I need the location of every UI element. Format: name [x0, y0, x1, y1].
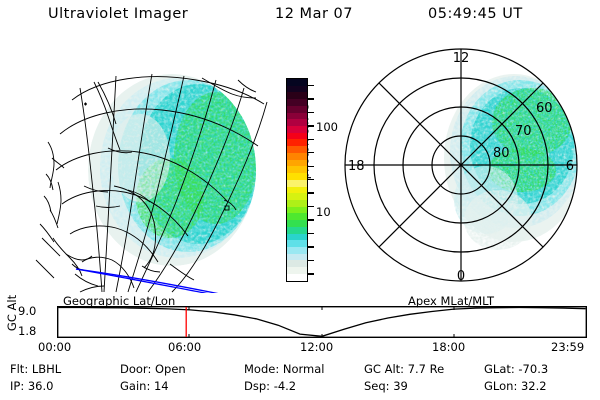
colorbar-tickmark — [308, 166, 314, 167]
colorbar-gradient — [286, 78, 308, 282]
colorbar-tickmark — [308, 85, 314, 86]
status-door: Door: Open — [120, 362, 186, 376]
status-glat-label: GLat: — [484, 362, 515, 376]
orbit-x-tickmarks — [189, 307, 454, 338]
colorbar-segment — [287, 227, 307, 234]
colorbar-segment — [287, 240, 307, 247]
mlt-label-6: 6 — [566, 159, 574, 174]
status-mode: Mode: Normal — [244, 362, 324, 376]
colorbar-segment — [287, 119, 307, 126]
colorbar-segment — [287, 254, 307, 261]
colorbar-tickmark — [308, 152, 314, 153]
colorbar-segment — [287, 133, 307, 140]
instrument-title: Ultraviolet Imager — [48, 6, 188, 22]
colorbar-label-10: 10 — [316, 207, 331, 219]
status-glon: GLon: 32.2 — [484, 379, 547, 393]
status-gcalt-value: 7.7 Re — [408, 362, 445, 376]
status-gcalt-label: GC Alt: — [364, 362, 404, 376]
colorbar-segment — [287, 200, 307, 207]
colorbar-segment — [287, 193, 307, 200]
colorbar-segment — [287, 126, 307, 133]
colorbar-tickmark — [308, 273, 314, 274]
status-gcalt: GC Alt: 7.7 Re — [364, 362, 444, 376]
colorbar-segment — [287, 92, 307, 99]
colorbar-segment — [287, 173, 307, 180]
status-dsp-label: Dsp: — [244, 379, 270, 393]
status-ip-value: 36.0 — [28, 379, 54, 393]
status-glon-label: GLon: — [484, 379, 517, 393]
colorbar-tickmark — [308, 260, 314, 261]
colorbar-segment — [287, 260, 307, 267]
status-door-value: Open — [155, 362, 186, 376]
colorbar-segment — [287, 139, 307, 146]
mlt-label-0: 0 — [457, 269, 465, 284]
terminator-line-segment — [76, 269, 220, 293]
colorbar-segment — [287, 146, 307, 153]
status-glat: GLat: -70.3 — [484, 362, 548, 376]
status-ip-label: IP: — [10, 379, 24, 393]
colorbar-segment — [287, 207, 307, 214]
mlt-label-18: 18 — [348, 159, 365, 174]
colorbar-segment — [287, 106, 307, 113]
mlat-label-80: 80 — [493, 146, 510, 161]
orbit-y-axis-label: GC Alt — [5, 283, 19, 343]
status-row-2: IP: 36.0 Gain: 14 Dsp: -4.2 Seq: 39 GLon… — [0, 379, 600, 396]
colorbar-segment — [287, 79, 307, 86]
status-mode-label: Mode: — [244, 362, 279, 376]
orbit-xtick-0: 00:00 — [38, 340, 71, 354]
app-root: Ultraviolet Imager 12 Mar 07 05:49:45 UT — [0, 0, 600, 400]
mlat-label-60: 60 — [536, 101, 553, 116]
polar-dial-svg: 12 6 0 18 60 70 80 — [336, 40, 586, 290]
colorbar-label-100: 100 — [316, 122, 338, 134]
mlt-label-12: 12 — [453, 51, 470, 66]
colorbar[interactable]: photon cm-2s-1 100 10 — [272, 60, 336, 296]
status-glat-value: -70.3 — [518, 362, 548, 376]
colorbar-tickmark — [308, 206, 314, 207]
mlt-spokes — [345, 49, 577, 281]
status-ip: IP: 36.0 — [10, 379, 53, 393]
status-gain: Gain: 14 — [120, 379, 169, 393]
colorbar-tickmark — [308, 112, 314, 113]
colorbar-segment — [287, 180, 307, 187]
status-seq-label: Seq: — [364, 379, 390, 393]
orbit-plot-frame — [58, 307, 587, 338]
header: Ultraviolet Imager 12 Mar 07 05:49:45 UT — [0, 6, 600, 30]
status-glon-value: 32.2 — [521, 379, 547, 393]
status-mode-value: Normal — [283, 362, 325, 376]
nadir-marker-icon — [84, 103, 87, 106]
altitude-curve — [59, 308, 586, 337]
orbit-altitude-svg — [57, 306, 587, 338]
colorbar-segment — [287, 274, 307, 281]
status-flt-value: LBHL — [32, 362, 61, 376]
status-footer: Flt: LBHL Door: Open Mode: Normal GC Alt… — [0, 360, 600, 400]
colorbar-segment — [287, 267, 307, 274]
colorbar-tickmark — [308, 98, 314, 99]
colorbar-segment — [287, 213, 307, 220]
colorbar-segment — [287, 166, 307, 173]
orbit-ytick-max: 9.0 — [18, 304, 36, 318]
status-seq-value: 39 — [393, 379, 408, 393]
orbit-ytick-min: 1.8 — [18, 324, 36, 338]
status-flt: Flt: LBHL — [10, 362, 61, 376]
status-row-1: Flt: LBHL Door: Open Mode: Normal GC Alt… — [0, 362, 600, 379]
colorbar-segment — [287, 160, 307, 167]
orbit-altitude-plot[interactable]: GC Alt 9.0 1.8 00:00 06:00 12:00 18:00 2… — [0, 300, 600, 356]
colorbar-segment — [287, 113, 307, 120]
colorbar-tickmark — [308, 179, 314, 180]
status-seq: Seq: 39 — [364, 379, 408, 393]
status-gain-value: 14 — [154, 379, 169, 393]
colorbar-tickmark — [308, 192, 314, 193]
status-door-label: Door: — [120, 362, 151, 376]
orbit-xtick-3: 18:00 — [432, 340, 465, 354]
status-flt-label: Flt: — [10, 362, 28, 376]
colorbar-tickmark — [308, 139, 314, 140]
orbit-x-axis-labels: 00:00 06:00 12:00 18:00 23:59 — [0, 340, 600, 356]
colorbar-tickmark — [308, 233, 314, 234]
colorbar-segment — [287, 187, 307, 194]
orbit-xtick-2: 12:00 — [300, 340, 333, 354]
apex-mlat-mlt-panel[interactable]: 12 6 0 18 60 70 80 — [336, 40, 586, 290]
status-dsp-value: -4.2 — [274, 379, 296, 393]
colorbar-tickmark — [308, 246, 314, 247]
colorbar-tickmark — [308, 125, 314, 126]
aurora-emission-apex — [444, 74, 584, 250]
orbit-xtick-4: 23:59 — [551, 340, 584, 354]
orbit-xtick-1: 06:00 — [168, 340, 201, 354]
colorbar-segment — [287, 99, 307, 106]
observation-time: 05:49:45 UT — [428, 6, 523, 22]
status-gain-label: Gain: — [120, 379, 150, 393]
colorbar-segment — [287, 153, 307, 160]
mlat-label-70: 70 — [515, 124, 532, 139]
colorbar-segment — [287, 234, 307, 241]
colorbar-ticks — [308, 78, 315, 282]
observation-date: 12 Mar 07 — [275, 6, 353, 22]
geographic-projection-svg — [20, 38, 272, 293]
colorbar-segment — [287, 86, 307, 93]
status-dsp: Dsp: -4.2 — [244, 379, 296, 393]
colorbar-segment — [287, 247, 307, 254]
colorbar-tickmark — [308, 219, 314, 220]
geographic-image-panel[interactable] — [20, 38, 272, 293]
colorbar-segment — [287, 220, 307, 227]
aurora-emission-geographic — [88, 74, 258, 266]
